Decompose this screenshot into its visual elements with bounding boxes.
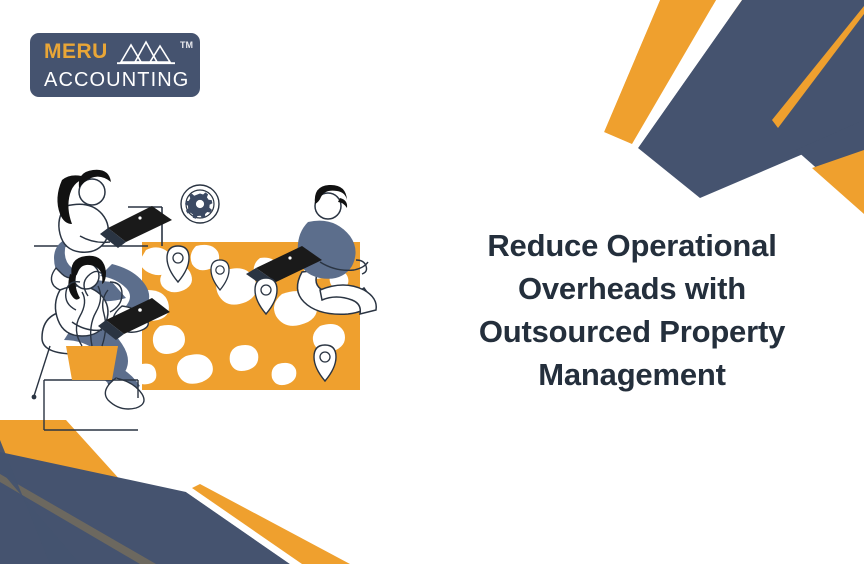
- corner-ribbon-top-right-white-gap: [632, 0, 742, 148]
- banner-canvas: MERU TM ACCOUNTING: [0, 0, 864, 564]
- corner-ribbon-bottom-left-white-gap: [186, 488, 302, 564]
- logo-word-meru: MERU: [44, 41, 108, 63]
- logo-primary-row: MERU TM: [44, 40, 200, 67]
- headline-line-2: Overheads with: [518, 271, 746, 306]
- corner-ribbon-top-right-orange-tail: [812, 150, 864, 214]
- corner-ribbon-bottom-left-orange-outer: [0, 420, 196, 564]
- corner-ribbon-top-right-hairline: [772, 6, 864, 128]
- mountain-peaks-icon: [117, 40, 175, 71]
- headline-line-3: Outsourced Property: [479, 314, 785, 349]
- logo-badge[interactable]: MERU TM ACCOUNTING: [30, 33, 200, 97]
- corner-ribbon-bottom-left-slate: [0, 452, 290, 564]
- hero-illustration: [20, 150, 420, 440]
- corner-ribbon-top-right-white-wedge: [596, 0, 660, 132]
- corner-ribbon-top-right-orange-outer: [700, 0, 864, 96]
- corner-ribbon-top-right-orange-blade: [604, 0, 716, 144]
- page-title: Reduce Operational Overheads with Outsou…: [424, 224, 840, 396]
- headline-line-1: Reduce Operational: [487, 228, 776, 263]
- corner-ribbon-top-right-slate-tail: [796, 120, 864, 210]
- corner-ribbon-bottom-left-hairline: [0, 474, 156, 564]
- trademark-symbol: TM: [180, 40, 193, 50]
- headline-line-4: Management: [538, 357, 725, 392]
- corner-ribbon-bottom-left-orange-blade: [192, 484, 350, 564]
- logo-word-accounting: ACCOUNTING: [44, 68, 200, 92]
- corner-ribbon-top-right-slate: [638, 0, 864, 198]
- gear-icon: [181, 185, 219, 223]
- corner-ribbon-bottom-left-slate-upper: [0, 440, 80, 564]
